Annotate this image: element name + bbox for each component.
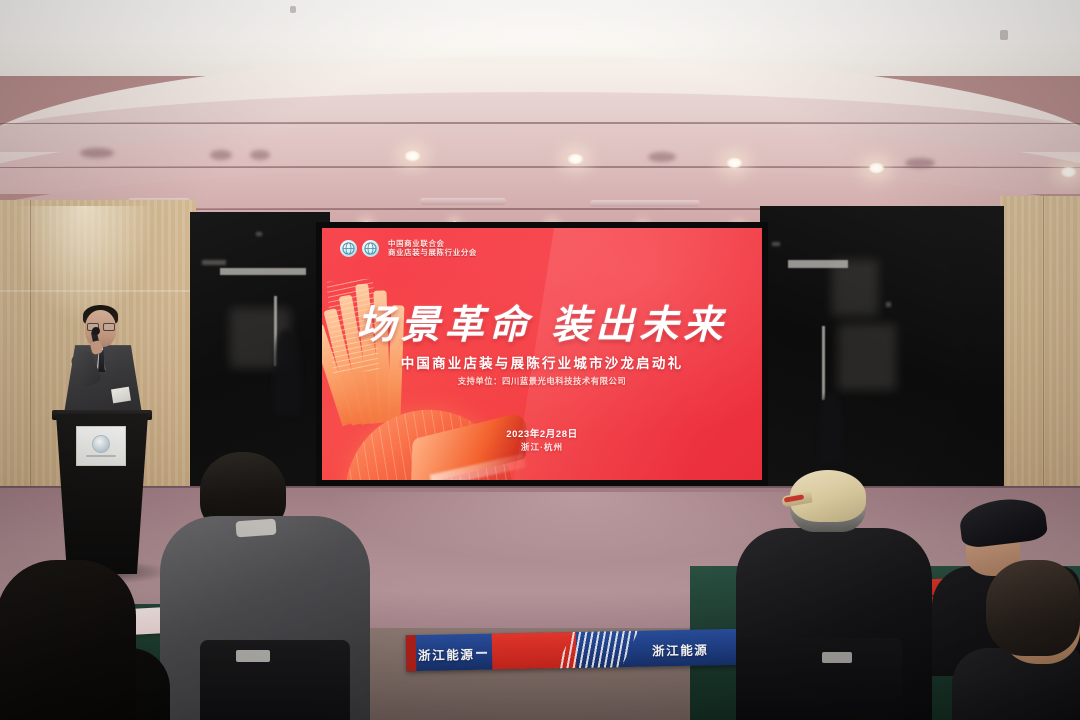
reflection-highlight [202,260,226,265]
wall-light-glow [14,206,154,326]
ceiling-vent [648,152,676,162]
speaker-glasses-icon [87,323,114,329]
reflection-light-strip [220,268,306,275]
banner-text-right: 浙江能源 [652,639,709,659]
reflection-spot [772,242,780,246]
globe-badge-icon [362,240,379,257]
ceiling-vent [210,150,232,160]
microphone-capsule-icon [92,327,100,335]
audience-man-gray-suit-collar [235,519,276,538]
reflection-silhouette [274,330,300,416]
chair-label-tag [236,650,270,662]
reflection-spot [256,232,262,236]
association-logo: 中国商业联合会 商业店装与展陈行业分会 [340,240,477,257]
podium-plate-text-line [86,455,116,457]
banner-text-left: 浙江能源 [418,644,475,664]
wall-trim-line [0,290,196,292]
slide-location: 浙江·杭州 [322,441,762,453]
globe-badge-icon [340,240,357,257]
led-stage-screen: 中国商业联合会 商业店装与展陈行业分会 场景革命 装出未来 中国商业店装与展陈行… [322,228,762,480]
recessed-downlight-icon [1060,166,1077,178]
slide-support-line: 支持单位：四川蓝景光电科技技术有限公司 [322,375,762,387]
conference-chair [736,638,902,720]
reflection-soft-glow [832,260,878,316]
sponsor-banner: 浙江能源 浙江能源 [406,629,745,671]
reflection-spot [886,302,891,307]
circular-emblem-icon [92,435,110,453]
logo-line-2: 商业店装与展陈行业分会 [388,249,477,258]
conference-chair [200,640,350,720]
recessed-downlight-icon [726,157,743,169]
reflection-soft-glow [838,324,896,390]
ceiling-vent [250,150,270,160]
recessed-downlight-icon [404,150,421,162]
audience-woman-long-hair [0,560,136,720]
reflection-door-edge [822,326,825,400]
ceiling-seam-1 [0,122,1080,124]
recessed-downlight-icon [868,162,885,174]
reflection-silhouette [820,394,842,462]
recessed-downlight-icon [567,153,584,165]
sprinkler-head-icon [1000,30,1008,40]
chair-label-tag [822,652,852,663]
ceiling-vent [80,148,114,158]
conference-hall-photo: 中国商业联合会 商业店装与展陈行业分会 场景革命 装出未来 中国商业店装与展陈行… [0,0,1080,720]
podium-emblem-plate [76,426,126,466]
banner-separator-dash [476,652,487,654]
slide-title-main: 场景革命 装出未来 [322,294,762,350]
ceiling-air-vent [590,200,700,207]
sprinkler-head-icon [290,6,296,13]
slide-title-sub: 中国商业店装与展陈行业城市沙龙启动礼 [322,352,762,372]
audience-foreground-man-hair [986,560,1080,656]
ceiling-vent [905,158,935,168]
slide-date: 2023年2月28日 [322,426,762,440]
ceiling-air-vent [420,198,506,205]
banner-end-cap [406,635,417,671]
speaker-notes-paper [111,387,131,404]
